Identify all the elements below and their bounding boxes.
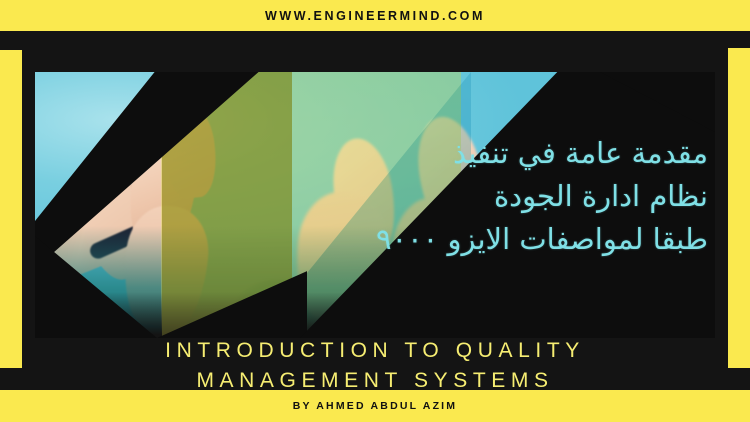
accent-bar-right: [728, 48, 750, 368]
bottom-banner: BY AHMED ABDUL AZIM: [0, 390, 750, 422]
arabic-headline: مقدمة عامة في تنفيذ نظام ادارة الجودة طب…: [376, 132, 708, 261]
author-credit: BY AHMED ABDUL AZIM: [293, 400, 458, 412]
accent-bar-left: [0, 50, 22, 368]
top-banner: WWW.ENGINEERMIND.COM: [0, 0, 750, 31]
poster-canvas: مقدمة عامة في تنفيذ نظام ادارة الجودة طب…: [0, 0, 750, 422]
english-title-line-1: INTRODUCTION TO QUALITY: [0, 336, 750, 366]
arabic-headline-line-3: طبقا لمواصفات الايزو ٩٠٠٠: [376, 218, 708, 261]
arabic-headline-line-2: نظام ادارة الجودة: [376, 175, 708, 218]
arabic-headline-line-1: مقدمة عامة في تنفيذ: [376, 132, 708, 175]
website-url: WWW.ENGINEERMIND.COM: [265, 9, 485, 23]
english-title: INTRODUCTION TO QUALITY MANAGEMENT SYSTE…: [0, 336, 750, 396]
